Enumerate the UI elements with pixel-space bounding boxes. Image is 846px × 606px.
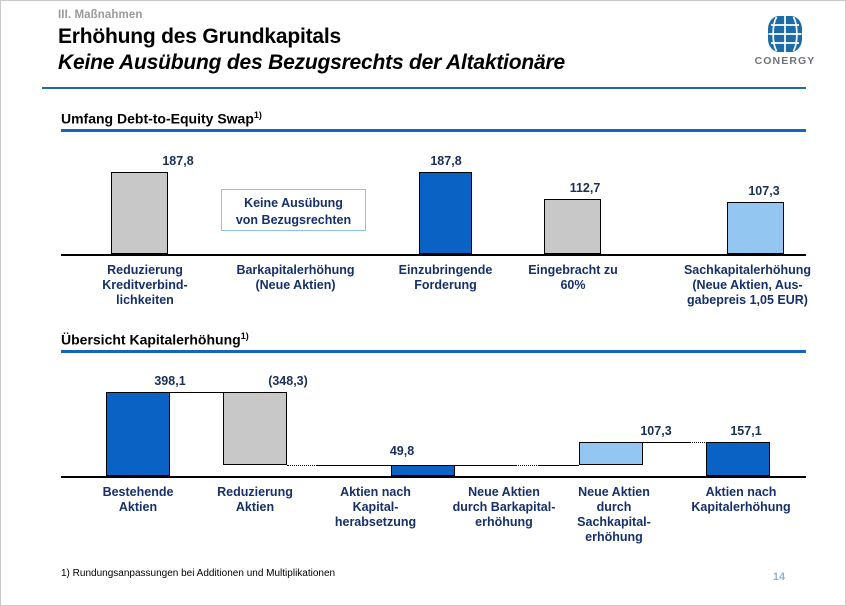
- waterfall-connector-dotted: [287, 465, 319, 466]
- logo-wordmark: CONERGY: [754, 55, 816, 67]
- x-axis-label-line: Reduzierung: [195, 485, 315, 500]
- waterfall-connector: [643, 442, 691, 443]
- bar-value-label: 107,3: [734, 184, 794, 198]
- x-axis-label-line: 60%: [513, 278, 633, 293]
- x-axis-label-4: Neue Aktien durch Barkapital- erhöhung: [434, 485, 574, 530]
- section-2-rule: [61, 350, 806, 353]
- bar-value-label: 107,3: [626, 424, 686, 438]
- x-axis-label-line: (Neue Aktien): [218, 278, 373, 293]
- x-axis-label-line: Neue Aktien: [434, 485, 574, 500]
- chart-1-baseline: [61, 254, 806, 256]
- bar-value-label: 157,1: [716, 424, 776, 438]
- bar-eingebracht-zu-60: [544, 199, 601, 254]
- x-axis-label-line: Kreditverbind-: [80, 278, 210, 293]
- x-axis-label-line: herabsetzung: [313, 515, 438, 530]
- x-axis-label-line: Sachkapital-: [559, 515, 669, 530]
- x-axis-label-line: Forderung: [378, 278, 513, 293]
- page-title: Erhöhung des Grundkapitals: [58, 25, 341, 49]
- x-axis-label-line: Neue Aktien: [559, 485, 669, 500]
- bar-einzubringende-forderung: [419, 172, 472, 254]
- x-axis-label-2: Barkapitalerhöhung (Neue Aktien): [218, 263, 373, 293]
- x-axis-label-line: lichkeiten: [80, 293, 210, 308]
- section-2-title: Übersicht Kapitalerhöhung1): [61, 331, 249, 348]
- waterfall-connector: [316, 465, 391, 466]
- section-1-title: Umfang Debt-to-Equity Swap1): [61, 110, 262, 127]
- x-axis-label-line: Aktien nach: [676, 485, 806, 500]
- x-axis-label-3: Einzubringende Forderung: [378, 263, 513, 293]
- waterfall-connector: [455, 465, 517, 466]
- waterfall-connector: [539, 465, 579, 466]
- bar-aktien-nach-kapitalherabsetzung: [391, 465, 455, 476]
- x-axis-label-2: Reduzierung Aktien: [195, 485, 315, 515]
- section-2-title-text: Übersicht Kapitalerhöhung: [61, 332, 241, 348]
- section-1-footnote-marker: 1): [254, 110, 262, 120]
- x-axis-label-line: Kapital-: [313, 500, 438, 515]
- callout-line-1: Keine Ausübung: [222, 195, 365, 212]
- slide: III. Maßnahmen Erhöhung des Grundkapital…: [0, 0, 846, 606]
- footnote: 1) Rundungsanpassungen bei Additionen un…: [61, 568, 335, 579]
- globe-icon: [766, 15, 804, 53]
- x-axis-label-line: Aktien: [195, 500, 315, 515]
- bar-value-label: 398,1: [140, 374, 200, 388]
- x-axis-label-line: Kapitalerhöhung: [676, 500, 806, 515]
- x-axis-label-3: Aktien nach Kapital- herabsetzung: [313, 485, 438, 530]
- bar-neue-aktien-sachkapitalerhoehung: [579, 442, 643, 465]
- x-axis-label-line: Reduzierung: [80, 263, 210, 278]
- x-axis-label-1: Reduzierung Kreditverbind- lichkeiten: [80, 263, 210, 308]
- x-axis-label-line: Bestehende: [78, 485, 198, 500]
- section-1-rule: [61, 129, 806, 132]
- bar-value-label: 187,8: [148, 154, 208, 168]
- waterfall-connector: [170, 392, 223, 393]
- bar-value-label: 112,7: [555, 181, 615, 195]
- bar-value-label: 187,8: [416, 154, 476, 168]
- x-axis-label-line: Aktien nach: [313, 485, 438, 500]
- bar-value-label: (348,3): [253, 374, 323, 388]
- x-axis-label-line: gabepreis 1,05 EUR): [665, 293, 830, 308]
- x-axis-label-4: Eingebracht zu 60%: [513, 263, 633, 293]
- x-axis-label-5: Sachkapitalerhöhung (Neue Aktien, Aus- g…: [665, 263, 830, 308]
- bar-reduzierung-aktien: [223, 392, 287, 465]
- callout-line-2: von Bezugsrechten: [222, 212, 365, 229]
- chart-uebersicht-kapitalerhoehung: 398,1 (348,3) 49,8 107,3 157,1 Bestehend…: [61, 361, 806, 551]
- chart-2-baseline: [61, 476, 806, 478]
- x-axis-label-6: Aktien nach Kapitalerhöhung: [676, 485, 806, 515]
- x-axis-label-line: Einzubringende: [378, 263, 513, 278]
- x-axis-label-line: Aktien: [78, 500, 198, 515]
- bar-value-label: 49,8: [372, 444, 432, 458]
- x-axis-label-line: Eingebracht zu: [513, 263, 633, 278]
- chart-debt-to-equity-swap: 187,8 Keine Ausübung von Bezugsrechten 1…: [61, 141, 806, 316]
- x-axis-label-1: Bestehende Aktien: [78, 485, 198, 515]
- x-axis-label-line: Sachkapitalerhöhung: [665, 263, 830, 278]
- x-axis-label-line: erhöhung: [434, 515, 574, 530]
- bar-reduzierung-kreditverbindlichkeiten: [111, 172, 168, 254]
- bar-aktien-nach-kapitalerhoehung: [706, 442, 770, 476]
- bar-sachkapitalerhoehung: [727, 202, 784, 254]
- callout-keine-ausuebung: Keine Ausübung von Bezugsrechten: [221, 189, 366, 231]
- conergy-logo: CONERGY: [754, 15, 816, 73]
- page-number: 14: [761, 571, 797, 583]
- x-axis-label-line: erhöhung: [559, 530, 669, 545]
- x-axis-label-line: durch: [559, 500, 669, 515]
- x-axis-label-line: Barkapitalerhöhung: [218, 263, 373, 278]
- bar-bestehende-aktien: [106, 392, 170, 476]
- section-1-title-text: Umfang Debt-to-Equity Swap: [61, 111, 254, 127]
- x-axis-label-line: durch Barkapital-: [434, 500, 574, 515]
- section-2-footnote-marker: 1): [241, 331, 249, 341]
- header-divider: [42, 87, 806, 89]
- x-axis-label-5: Neue Aktien durch Sachkapital- erhöhung: [559, 485, 669, 545]
- page-subtitle: Keine Ausübung des Bezugsrechts der Alta…: [58, 51, 565, 75]
- slide-kicker: III. Maßnahmen: [58, 9, 142, 21]
- x-axis-label-line: (Neue Aktien, Aus-: [665, 278, 830, 293]
